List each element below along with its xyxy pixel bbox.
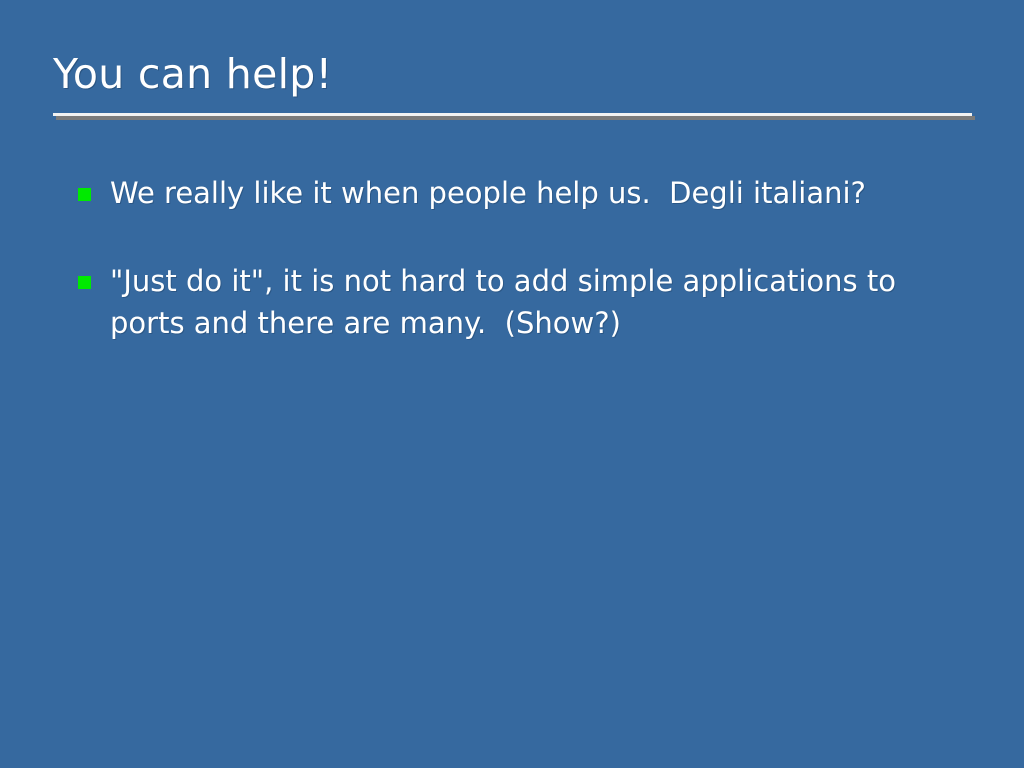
square-bullet-icon (78, 188, 91, 201)
title-underline-shadow (56, 116, 975, 120)
bullet-text: "Just do it", it is not hard to add simp… (110, 260, 938, 344)
page-title: You can help! (53, 48, 973, 100)
presentation-slide: You can help! We really like it when peo… (0, 0, 1024, 768)
slide-body: We really like it when people help us. D… (78, 172, 938, 344)
title-underline (53, 113, 972, 116)
list-item: We really like it when people help us. D… (78, 172, 938, 214)
list-item: "Just do it", it is not hard to add simp… (78, 260, 938, 344)
square-bullet-icon (78, 276, 91, 289)
title-block: You can help! (53, 48, 973, 100)
bullet-text: We really like it when people help us. D… (110, 172, 938, 214)
